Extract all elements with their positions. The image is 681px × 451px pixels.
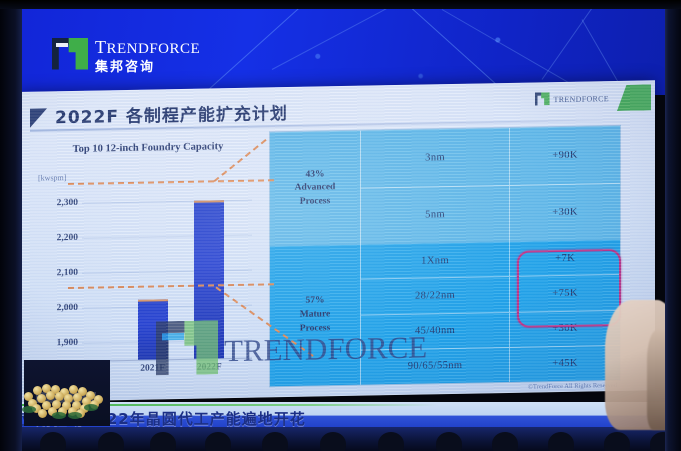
trendforce-mark-icon — [52, 36, 88, 72]
table-rows-advanced: 3nm +90K 5nm +30K — [361, 126, 620, 245]
audience-head — [436, 432, 462, 451]
chart-y-tick-label: 1,900 — [34, 338, 78, 349]
segment-label-advanced: 43% Advanced Process — [270, 131, 361, 247]
table-row: 3nm +90K — [361, 126, 620, 188]
chart-x-tick-label: 2021F — [140, 363, 165, 373]
trendforce-mark-small-icon — [535, 91, 550, 106]
slide-title: 2022F 各制程产能扩充计划 — [55, 99, 288, 128]
chart-bar-cap — [194, 200, 224, 203]
room-left-edge — [0, 0, 22, 451]
highlight-box — [517, 249, 621, 328]
conference-photo-scene: TrendForce 集邦咨询 2022F 各制程产能扩充计划 TrendFor… — [0, 0, 681, 451]
table-row: 90/65/55nm +45K — [361, 346, 620, 385]
flower-arrangement — [22, 382, 114, 416]
brand-name: TrendForce — [95, 33, 200, 58]
foundry-capacity-chart: Top 10 12-inch Foundry Capacity [kwspm] … — [32, 135, 264, 389]
chart-bar — [194, 200, 224, 359]
chart-y-tick-label: 2,100 — [34, 268, 78, 279]
capacity-add: +90K — [510, 126, 620, 185]
segment-pct: 57% — [306, 296, 325, 306]
trendforce-logo-slide: TrendForce — [535, 90, 609, 106]
chart-y-tick-label: 2,300 — [34, 197, 78, 208]
table-row: 5nm +30K — [361, 184, 620, 245]
process-node: 28/22nm — [361, 277, 510, 314]
process-node: 45/40nm — [361, 313, 510, 350]
chart-unit-label: [kwspm] — [38, 173, 66, 183]
chart-x-tick-label: 2022F — [197, 362, 222, 372]
chart-gridline — [82, 270, 252, 274]
audience-head — [492, 432, 518, 451]
trendforce-logo-header: TrendForce 集邦咨询 — [52, 33, 200, 74]
audience-head — [40, 432, 66, 451]
corner-accent-shape — [617, 84, 651, 111]
chart-bar-cap — [138, 299, 168, 302]
chart-title: Top 10 12-inch Foundry Capacity — [54, 140, 242, 157]
flower-leaf — [52, 412, 66, 419]
slide-logo-text: TrendForce — [554, 92, 609, 105]
segment-line2: Advanced — [295, 182, 336, 193]
flower-leaf — [68, 412, 82, 419]
audience-head — [150, 432, 176, 451]
segment-line2: Mature — [300, 309, 330, 320]
process-node: 1Xnm — [361, 242, 510, 279]
capacity-add: +45K — [510, 346, 620, 382]
audience-row — [0, 427, 681, 451]
process-node: 90/65/55nm — [361, 348, 510, 385]
room-right-edge — [665, 0, 681, 451]
audience-head — [378, 432, 404, 451]
title-triangle-icon — [30, 108, 47, 127]
audience-head — [205, 432, 231, 451]
banner-headline: 期驱动2022年晶圆代工产能遍地开花 — [36, 408, 596, 429]
flower-blossom — [38, 409, 47, 418]
table-section-advanced: 43% Advanced Process 3nm +90K 5nm +30K — [270, 126, 620, 247]
slide-title-group: 2022F 各制程产能扩充计划 — [30, 99, 288, 129]
audience-head — [604, 432, 630, 451]
chart-y-tick-label: 2,200 — [34, 233, 78, 244]
chart-y-tick-label: 2,000 — [34, 303, 78, 314]
room-top-edge — [0, 0, 681, 9]
process-node: 3nm — [361, 128, 510, 187]
segment-pct: 43% — [306, 169, 325, 179]
audience-head — [320, 432, 346, 451]
flower-blossom — [46, 391, 55, 400]
brand-name-cn: 集邦咨询 — [95, 61, 200, 74]
process-node: 5nm — [361, 186, 510, 245]
capacity-add: +30K — [510, 184, 620, 243]
chart-bar — [138, 299, 168, 359]
audience-head — [98, 432, 124, 451]
audience-head — [262, 432, 288, 451]
chart-gridline — [82, 234, 252, 238]
segment-line3: Process — [300, 196, 330, 207]
chart-gridline — [82, 199, 252, 203]
projected-slide: 2022F 各制程产能扩充计划 TrendForce Top 10 12-inc… — [16, 80, 655, 402]
chart-plot-area: 1,9002,0002,1002,2002,3002021F2022F — [82, 182, 252, 361]
audience-head — [548, 432, 574, 451]
flower-leaf — [84, 404, 98, 411]
segment-label-mature: 57% Mature Process — [270, 245, 361, 386]
flower-leaf — [22, 406, 36, 413]
segment-line3: Process — [300, 323, 330, 334]
slide-copyright: ©TrendForce All Rights Reserved — [528, 382, 617, 391]
